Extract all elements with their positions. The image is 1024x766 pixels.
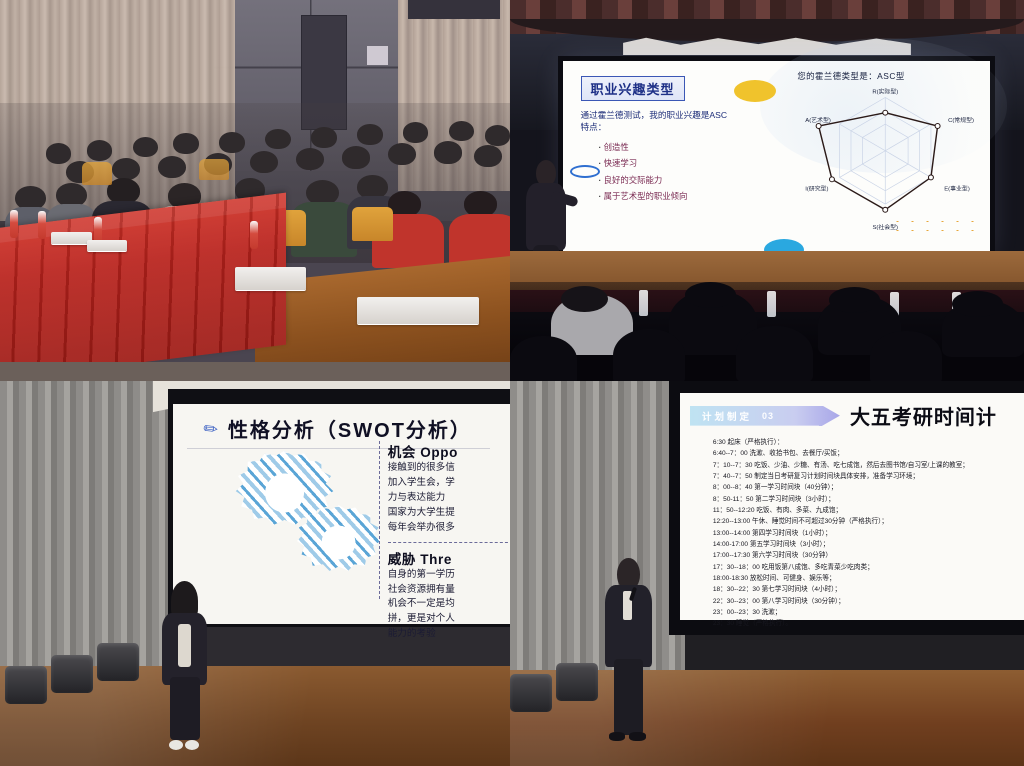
document-stack (235, 267, 306, 290)
threat-heading: 威胁 Thre (388, 548, 510, 568)
banner-label: 计划制定 (702, 409, 752, 423)
schedule-row: 22：30--23：00 第八学习时间块（30分钟）； (713, 596, 1017, 607)
section-banner: 计划制定 03 (690, 406, 840, 426)
schedule-row: 18：30--22：30 第七学习时间块（4小时）； (713, 584, 1017, 595)
schedule-row: 8：50-11：50 第二学习时间块（3小时）； (713, 494, 1017, 505)
schedule-row: 23：00--23：30 洗漱； (713, 607, 1017, 618)
threat-line: 拼，更是对个人 (388, 612, 510, 627)
radar-caption: 您的霍兰德类型是：ASC型 (797, 70, 904, 82)
presenter-shoe (185, 740, 199, 750)
opportunity-line: 接触到的很多信 (388, 461, 510, 476)
presenter-legs (614, 659, 643, 735)
radar-label-i: I(研究型) (806, 184, 829, 192)
schedule-row: 8：00--8：40 第一学习时间块（40分钟）； (713, 482, 1017, 493)
projection-screen: 计划制定 03 大五考研时间计 6:30 起床（严格执行）： 6:40--7：0… (680, 393, 1024, 620)
slide-header: 计划制定 03 大五考研时间计 (690, 401, 1017, 430)
presenter-person (603, 558, 654, 739)
threat-line: 能力的考验 (388, 627, 510, 642)
schedule-row: 6:40--7：00 洗漱、收拾书包、去餐厅/买饭； (713, 448, 1017, 459)
presenter-shoe (609, 732, 625, 741)
schedule-list: 6:30 起床（严格执行）： 6:40--7：00 洗漱、收拾书包、去餐厅/买饭… (713, 437, 1017, 630)
pencil-icon: ✎ (199, 416, 224, 442)
schedule-row: 17：30--18：00 吃用饭第八成饱、多吃青菜少吃肉类； (713, 562, 1017, 573)
swot-slide: ✎ 性格分析（SWOT分析） 机会 Oppo 接触到的很多信 加入学生会，学 力… (173, 404, 510, 623)
schedule-row: 18:00-18:30 放松时间、可健身、娱乐等； (713, 573, 1017, 584)
radar-label-c: C(常规型) (948, 116, 974, 124)
threat-line: 机会不一定是均 (388, 597, 510, 612)
stage-monitor-speaker (97, 643, 139, 681)
radar-axis-labels: R(实际型) C(常规型) E(事业型) S(社会型) I(研究型) A(艺术型… (806, 87, 975, 230)
radar-label-r: R(实际型) (873, 87, 899, 95)
threat-line: 自身的第一学历 (388, 568, 510, 583)
stage-monitor-speaker (556, 663, 598, 701)
radar-label-a: A(艺术型) (806, 116, 832, 124)
panel-divider (388, 542, 510, 543)
schedule-row: 11：50--12:20 吃饭、有肉、多菜、九成饱； (713, 505, 1017, 516)
slide-header: ✎ 性格分析（SWOT分析） (173, 414, 510, 443)
radar-label-e: E(事业型) (945, 184, 971, 192)
schedule-row: 7：40--7：50 制定当日考研复习计划时间块具体安排，准备学习环境； (713, 471, 1017, 482)
opportunity-line: 国家为大学生提 (388, 506, 510, 521)
schedule-row: 7：10--7：30 吃饭、少油、少糖、有汤、吃七成饱，然后去图书馆/自习室/上… (713, 460, 1017, 471)
blue-ring-decoration (570, 165, 600, 178)
side-wall-panels (510, 381, 685, 697)
slide-title: 性格分析（SWOT分析） (228, 414, 472, 443)
orange-dot-grid-decoration (890, 217, 978, 237)
schedule-row: 14:00-17:00 第五学习时间块（3小时）； (713, 539, 1017, 550)
exit-sign (367, 46, 387, 65)
slide-title: 大五考研时间计 (850, 401, 997, 430)
photo-collage: 职业兴趣类型 通过霍兰德测试，我的职业兴趣是ASC 特点： 创造性 快速学习 良… (0, 0, 1024, 766)
presenter-shoe (169, 740, 183, 750)
presenter-person (158, 581, 212, 747)
gear-illustration (227, 448, 382, 584)
water-bottle (38, 211, 46, 239)
floor-band (0, 362, 510, 381)
schedule-slide: 计划制定 03 大五考研时间计 6:30 起床（严格执行）： 6:40--7：0… (680, 393, 1024, 620)
opportunity-heading: 机会 Oppo (388, 441, 510, 461)
presenter-inner-top (178, 624, 191, 667)
stage-monitor-speaker (5, 666, 47, 704)
lighting-rig (408, 0, 500, 19)
presenter-legs (170, 677, 200, 740)
banner-number: 03 (762, 411, 774, 421)
presenter-shoe (629, 732, 645, 741)
schedule-row: 13:00--14:00 第四学习时间块（1小时）； (713, 528, 1017, 539)
projection-screen: 职业兴趣类型 通过霍兰德测试，我的职业兴趣是ASC 特点： 创造性 快速学习 良… (563, 61, 990, 253)
opportunity-line: 加入学生会，学 (388, 476, 510, 491)
schedule-row: 17:00--17:30 第六学习时间块（30分钟） (713, 550, 1017, 561)
opportunity-line: 力与表达能力 (388, 491, 510, 506)
radar-points (816, 110, 940, 212)
projection-screen: ✎ 性格分析（SWOT分析） 机会 Oppo 接触到的很多信 加入学生会，学 力… (173, 404, 510, 623)
schedule-row: 6:30 起床（严格执行）： (713, 437, 1017, 448)
schedule-row: 23：30 睡觉（严格执行）。 (713, 618, 1017, 629)
speaker-schedule-slide-photo: 计划制定 03 大五考研时间计 6:30 起床（严格执行）： 6:40--7：0… (510, 381, 1024, 766)
stage-monitor-speaker (510, 674, 552, 712)
documents (51, 232, 92, 243)
water-bottle (10, 210, 18, 238)
foreground-audience (510, 282, 1024, 381)
threat-line: 社会资源拥有量 (388, 583, 510, 598)
swot-text-panel: 机会 Oppo 接触到的很多信 加入学生会，学 力与表达能力 国家为大学生提 每… (379, 441, 510, 599)
documents (87, 240, 128, 251)
schedule-row: 12:20--13:00 午休、睡觉时间不可超过30分钟（严格执行）； (713, 516, 1017, 527)
speaker-holland-slide-photo: 职业兴趣类型 通过霍兰德测试，我的职业兴趣是ASC 特点： 创造性 快速学习 良… (510, 0, 1024, 381)
stage-monitor-speaker (51, 655, 93, 693)
document-stack (357, 297, 479, 324)
auditorium-audience-photo (0, 0, 510, 381)
holland-slide: 职业兴趣类型 通过霍兰德测试，我的职业兴趣是ASC 特点： 创造性 快速学习 良… (563, 61, 990, 253)
holland-radar-chart: 您的霍兰德类型是：ASC型 (785, 67, 986, 248)
opportunity-line: 每年会举办很多 (388, 521, 510, 536)
water-bottle (250, 221, 258, 249)
slide-title: 职业兴趣类型 (581, 76, 685, 101)
speaker-swot-slide-photo: ✎ 性格分析（SWOT分析） 机会 Oppo 接触到的很多信 加入学生会，学 力… (0, 381, 510, 766)
